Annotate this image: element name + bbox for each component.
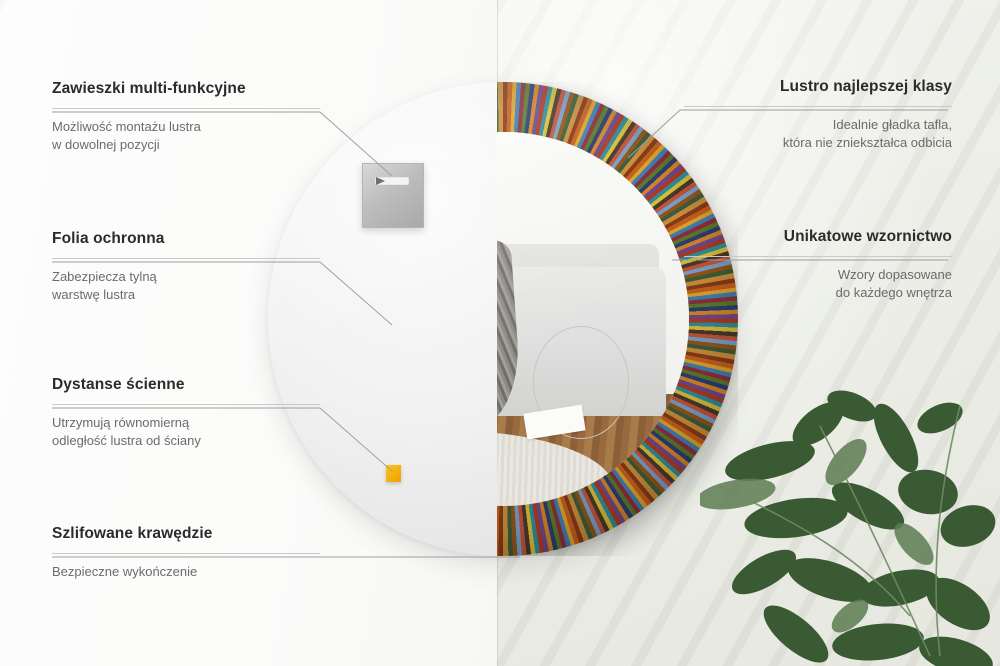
callout-description: Możliwość montażu lustra w dowolnej pozy… [52, 118, 320, 156]
callout-title: Zawieszki multi-funkcyjne [52, 80, 320, 99]
wall-spacer [386, 465, 401, 482]
callout-title: Dystanse ścienne [52, 376, 320, 395]
callout-rule [684, 106, 952, 107]
callout-description: Utrzymują równomierną odległość lustra o… [52, 414, 320, 452]
callout-edges: Szlifowane krawędzie Bezpieczne wykończe… [52, 525, 320, 581]
reflected-floor-lamp [533, 326, 630, 438]
product-mirror [268, 82, 738, 556]
callout-spacers: Dystanse ścienne Utrzymują równomierną o… [52, 376, 320, 451]
callout-rule [52, 108, 320, 109]
callout-design: Unikatowe wzornictwo Wzory dopasowane do… [684, 228, 952, 303]
callout-foil: Folia ochronna Zabezpiecza tylną warstwę… [52, 230, 320, 305]
callout-title: Szlifowane krawędzie [52, 525, 320, 544]
keyhole-hanger-plate [362, 163, 424, 228]
plant-foliage [700, 366, 1000, 666]
callout-title: Unikatowe wzornictwo [684, 228, 952, 247]
callout-title: Lustro najlepszej klasy [684, 78, 952, 97]
infographic-canvas: Zawieszki multi-funkcyjne Możliwość mont… [0, 0, 1000, 666]
callout-hangers: Zawieszki multi-funkcyjne Możliwość mont… [52, 80, 320, 155]
callout-rule [52, 404, 320, 405]
callout-description: Wzory dopasowane do każdego wnętrza [684, 266, 952, 304]
callout-rule [52, 553, 320, 554]
callout-mirror-quality: Lustro najlepszej klasy Idealnie gładka … [684, 78, 952, 153]
reflected-book [524, 404, 587, 439]
callout-description: Bezpieczne wykończenie [52, 563, 320, 582]
keyhole-slot-icon [375, 177, 409, 185]
callout-rule [52, 258, 320, 259]
callout-rule [684, 256, 952, 257]
callout-title: Folia ochronna [52, 230, 320, 249]
callout-description: Zabezpiecza tylną warstwę lustra [52, 268, 320, 306]
callout-description: Idealnie gładka tafla, która nie znieksz… [684, 116, 952, 154]
